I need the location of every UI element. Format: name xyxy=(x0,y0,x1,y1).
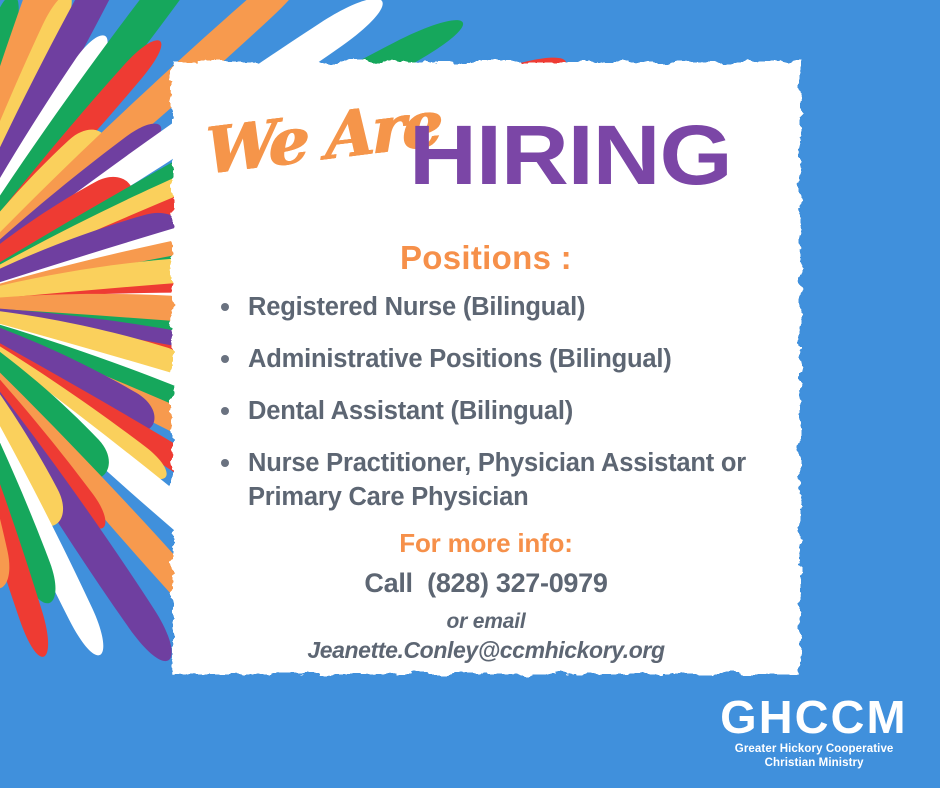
positions-list: Registered Nurse (Bilingual)Administrati… xyxy=(215,291,775,533)
contact-email-address[interactable]: Jeanette.Conley@ccmhickory.org xyxy=(163,637,809,664)
hiring-poster: We Are HIRING Positions : Registered Nur… xyxy=(0,0,940,788)
contact-block: For more info: Call (828) 327-0979 or em… xyxy=(163,528,809,664)
logo-wordmark: GHCCM xyxy=(720,694,907,740)
headline-hiring-text: HIRING xyxy=(409,105,732,205)
bullet-dot-icon xyxy=(221,355,229,363)
position-item: Registered Nurse (Bilingual) xyxy=(215,291,775,324)
bullet-dot-icon xyxy=(221,459,229,467)
position-item: Nurse Practitioner, Physician Assistant … xyxy=(215,447,775,513)
headline-script-text: We Are xyxy=(204,86,439,190)
position-item-label: Nurse Practitioner, Physician Assistant … xyxy=(248,449,746,510)
contact-phone[interactable]: Call (828) 327-0979 xyxy=(163,568,809,599)
contact-or-email-label: or email xyxy=(163,610,809,634)
position-item-label: Dental Assistant (Bilingual) xyxy=(248,397,573,425)
position-item-label: Registered Nurse (Bilingual) xyxy=(248,293,585,321)
white-card: We Are HIRING Positions : Registered Nur… xyxy=(163,53,809,683)
logo-tagline-line-2: Christian Ministry xyxy=(722,757,906,771)
logo-tagline-line-1: Greater Hickory Cooperative xyxy=(722,743,906,757)
ghccm-logo: GHCCM Greater Hickory Cooperative Christ… xyxy=(722,694,906,770)
position-item: Dental Assistant (Bilingual) xyxy=(215,395,775,428)
logo-tagline: Greater Hickory Cooperative Christian Mi… xyxy=(722,743,906,770)
position-item-label: Administrative Positions (Bilingual) xyxy=(248,345,672,373)
positions-title: Positions : xyxy=(163,239,809,277)
headline: We Are HIRING xyxy=(163,105,809,215)
contact-heading: For more info: xyxy=(163,528,809,559)
position-item: Administrative Positions (Bilingual) xyxy=(215,343,775,376)
bullet-dot-icon xyxy=(221,407,229,415)
bullet-dot-icon xyxy=(221,303,229,311)
